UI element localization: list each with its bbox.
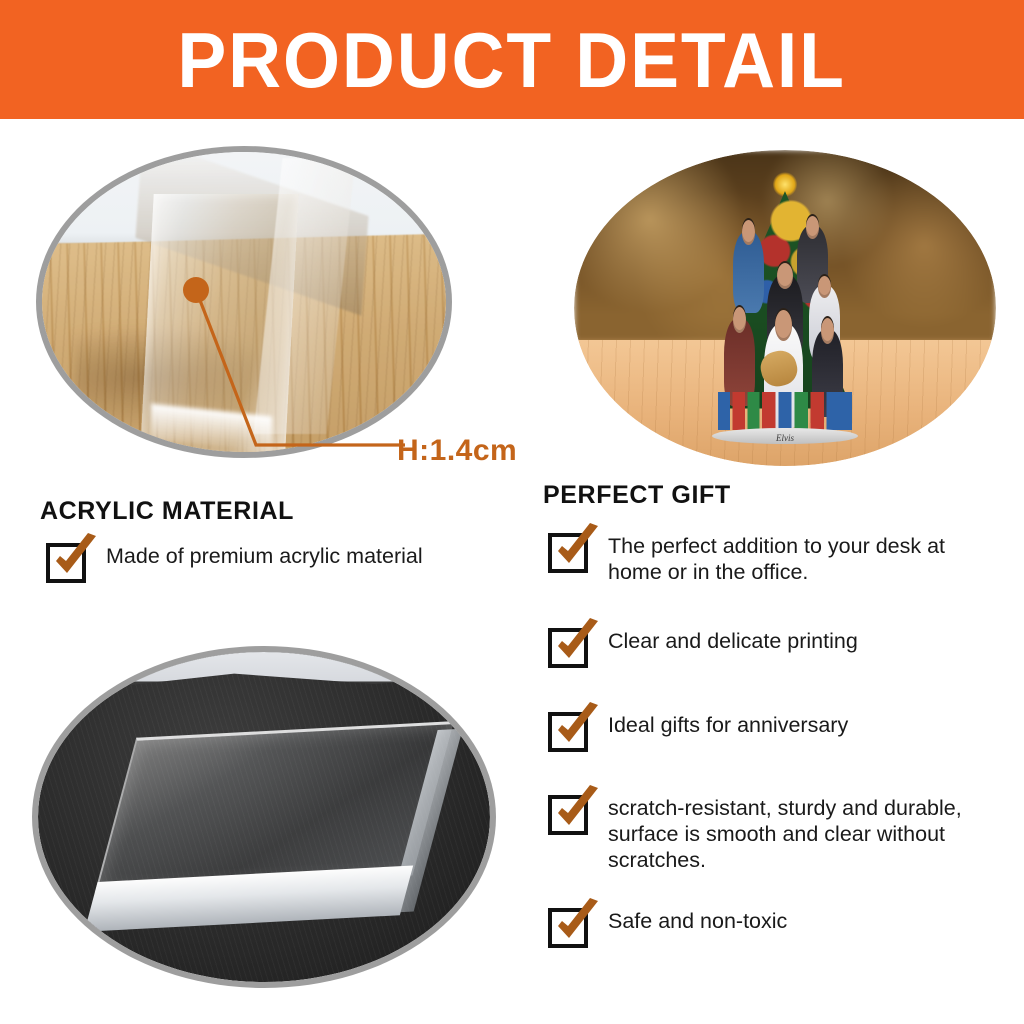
elvis-head xyxy=(742,220,755,244)
checkmark-icon xyxy=(46,531,102,587)
checkmark-icon xyxy=(548,700,604,756)
checkmark-icon xyxy=(548,896,604,952)
elvis-figure xyxy=(733,232,763,314)
acrylic-block xyxy=(84,721,452,932)
feature-text: Ideal gifts for anniversary xyxy=(608,712,848,738)
photo-acrylic-block xyxy=(38,652,490,982)
elvis-head xyxy=(777,263,793,289)
feature-item: The perfect addition to your desk at hom… xyxy=(548,533,998,585)
thickness-label: H:1.4cm xyxy=(397,434,517,468)
photo-acrylic-block-inner xyxy=(38,652,490,982)
feature-item: scratch-resistant, sturdy and durable, s… xyxy=(548,795,1003,874)
section-heading-perfect-gift: PERFECT GIFT xyxy=(543,481,731,510)
section-heading-acrylic-material: ACRYLIC MATERIAL xyxy=(40,497,294,526)
elvis-head xyxy=(818,276,831,299)
base-script-text: Elvis xyxy=(709,433,861,443)
photo-product: Elvis xyxy=(574,150,996,466)
feature-text: Made of premium acrylic material xyxy=(106,543,423,569)
header-banner: PRODUCT DETAIL xyxy=(0,0,1024,119)
callout-dot-icon xyxy=(183,277,209,303)
checkbox-checked-icon xyxy=(548,533,588,573)
feature-text: Clear and delicate printing xyxy=(608,628,858,654)
feature-text: scratch-resistant, sturdy and durable, s… xyxy=(608,795,1003,874)
feature-item: Safe and non-toxic xyxy=(548,908,998,948)
checkbox-checked-icon xyxy=(548,712,588,752)
page-title: PRODUCT DETAIL xyxy=(178,21,847,99)
feature-text: Safe and non-toxic xyxy=(608,908,787,934)
checkbox-checked-icon xyxy=(548,908,588,948)
callout-leader-line xyxy=(196,290,405,445)
elvis-head xyxy=(775,310,792,341)
checkbox-checked-icon xyxy=(46,543,86,583)
elvis-head xyxy=(821,318,834,344)
photo-product-inner: Elvis xyxy=(574,150,996,466)
checkbox-checked-icon xyxy=(548,795,588,835)
checkmark-icon xyxy=(548,521,604,577)
feature-item: Ideal gifts for anniversary xyxy=(548,712,998,752)
feature-item: Made of premium acrylic material xyxy=(46,543,516,583)
checkmark-icon xyxy=(548,616,604,672)
thickness-callout xyxy=(150,260,410,470)
checkmark-icon xyxy=(548,783,604,839)
elvis-christmas-tree-figurine: Elvis xyxy=(709,172,861,444)
elvis-head xyxy=(806,216,819,239)
elvis-head xyxy=(733,307,746,333)
feature-item: Clear and delicate printing xyxy=(548,628,998,668)
checkbox-checked-icon xyxy=(548,628,588,668)
feature-text: The perfect addition to your desk at hom… xyxy=(608,533,998,585)
wrapped-presents xyxy=(718,392,852,430)
